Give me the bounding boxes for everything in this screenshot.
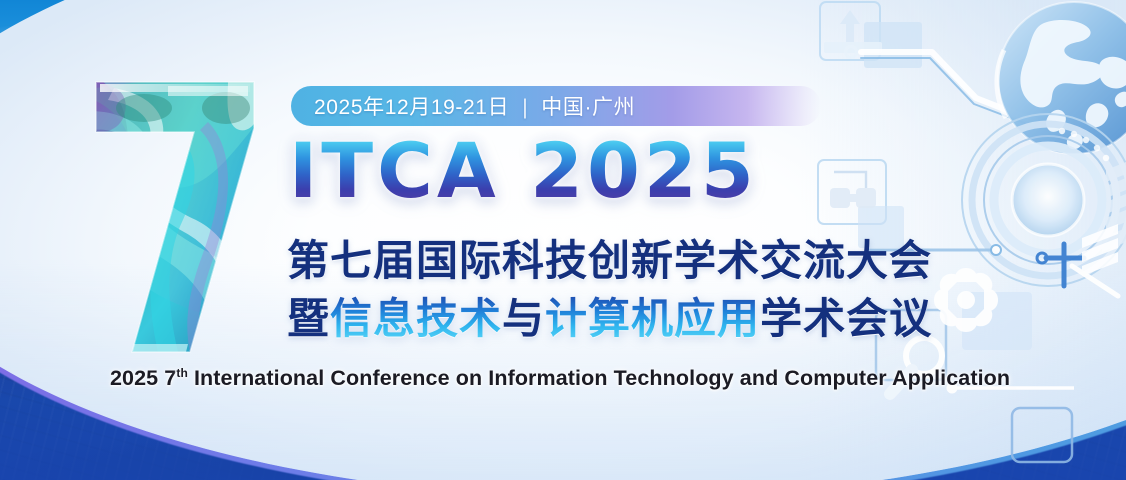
conference-date: 2025年12月19-21日 [314,96,509,119]
cn2-seg1: 暨 [287,294,330,343]
panel-rect [1012,408,1072,462]
chinese-title-line2: 暨信息技术与计算机应用学术会议 [287,298,932,340]
english-title-ordinal: th [176,366,188,380]
cn2-seg5: 学术会议 [760,294,932,343]
badge-separator: | [522,96,528,119]
english-title: 2025 7th International Conference on Inf… [110,366,1010,391]
date-location-badge: 2025年12月19-21日|中国·广州 [291,86,821,126]
cn2-seg3: 与 [502,294,545,343]
cn2-seg2: 信息技术 [330,294,502,343]
pinwheel-icon [934,268,998,332]
english-title-rest: International Conference on Information … [188,366,1010,390]
date-location-text: 2025年12月19-21日|中国·广州 [314,91,635,121]
edition-numeral-7 [78,62,278,372]
chip-icon [830,188,876,208]
conference-banner: 2025年12月19-21日|中国·广州 ITCA 2025 第七届国际科技创新… [0,0,1126,480]
english-title-prefix: 2025 7 [110,366,176,390]
acronym-title: ITCA 2025 [289,133,758,209]
cn2-seg4: 计算机应用 [545,294,760,343]
chinese-title-line1: 第七届国际科技创新学术交流大会 [287,240,932,282]
node-dot [991,245,1001,255]
circuit-line [834,172,866,188]
conference-location: 中国·广州 [541,96,635,119]
